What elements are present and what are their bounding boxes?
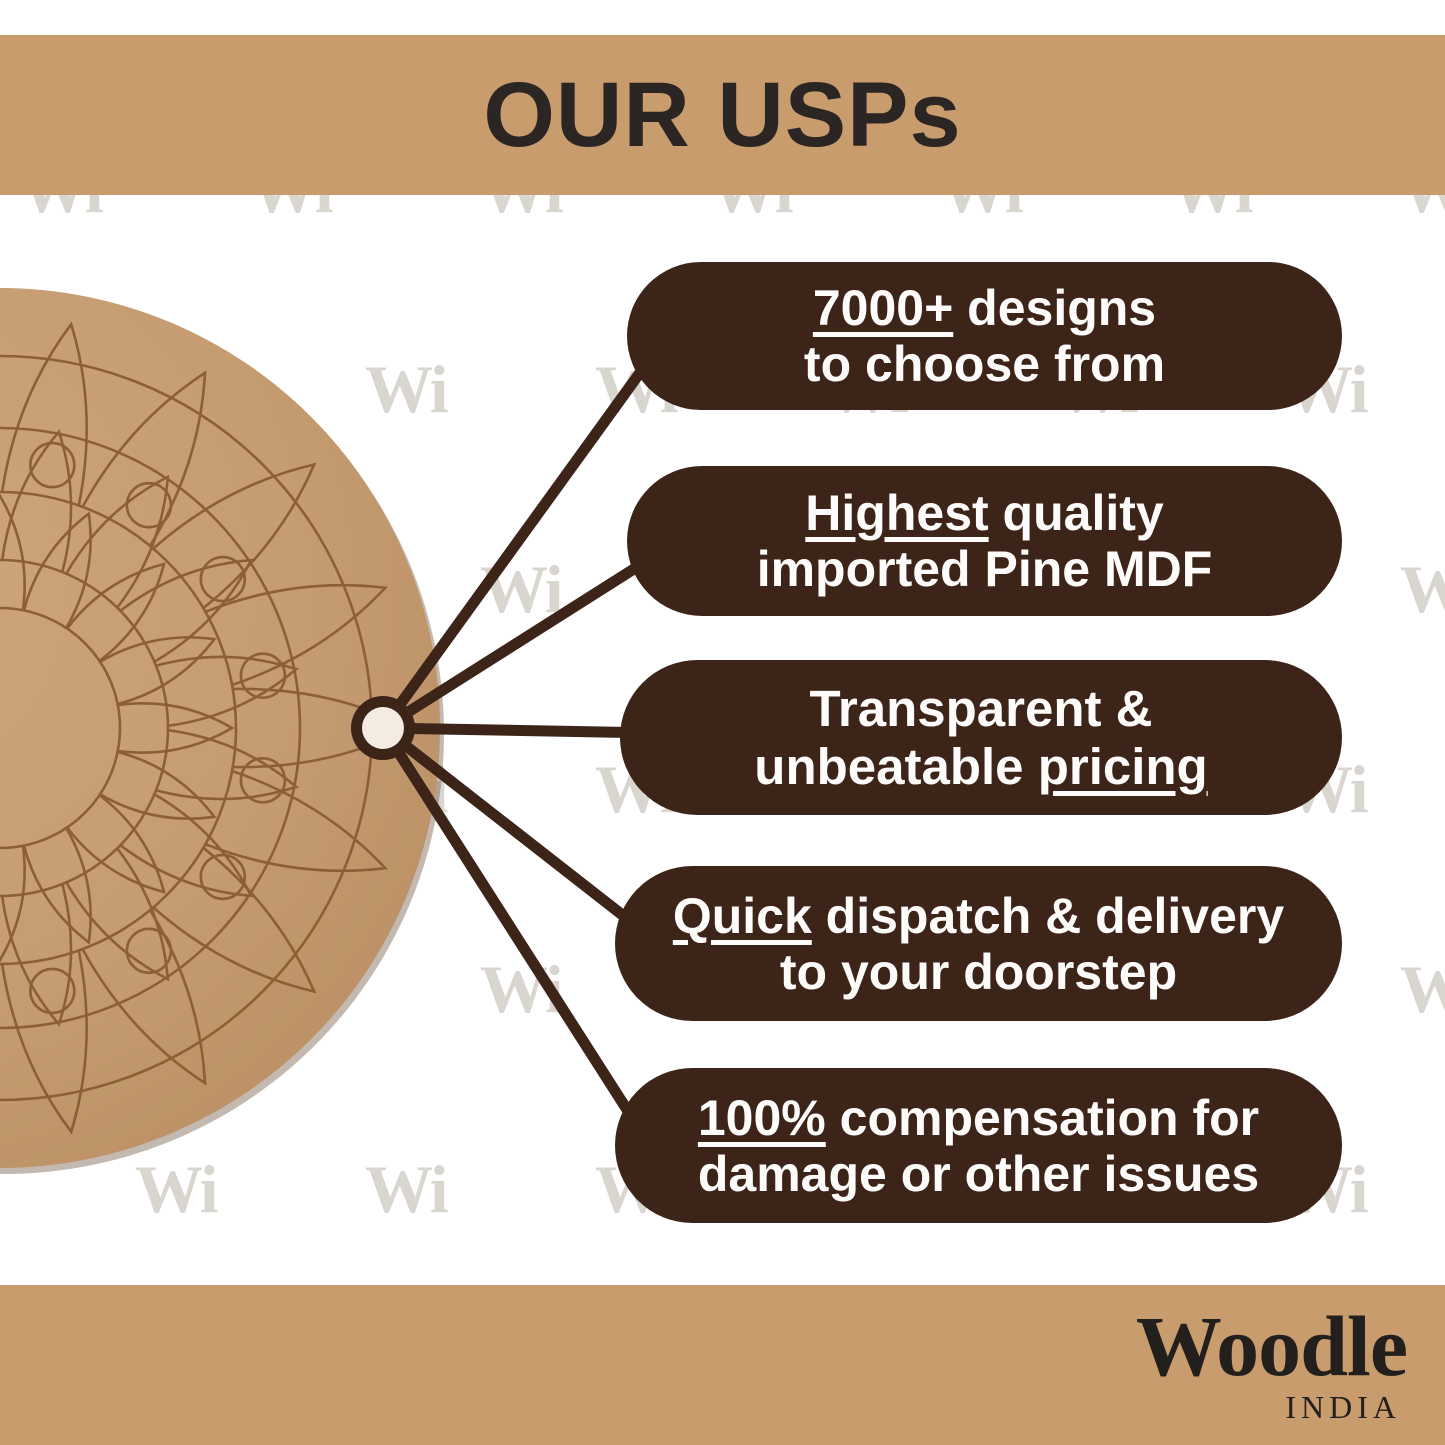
- usp-2-l2-pre: unbeatable: [754, 738, 1037, 795]
- usp-pill-dispatch[interactable]: Quick dispatch & delivery to your doorst…: [615, 866, 1342, 1021]
- usp-text-designs: 7000+ designs to choose from: [804, 280, 1165, 392]
- usp-pill-pricing[interactable]: Transparent & unbeatable pricing: [620, 660, 1342, 815]
- connector-line-1: [383, 345, 660, 728]
- brand-name: Woodle: [1136, 1303, 1407, 1389]
- header-band: OUR USPs: [0, 35, 1445, 195]
- usp-4-l1-post: compensation for: [826, 1090, 1259, 1146]
- usp-0-l1-post: designs: [953, 280, 1156, 336]
- usp-0-l2-pre: to choose from: [804, 336, 1165, 392]
- usp-1-l1-post: quality: [989, 485, 1164, 541]
- usp-0-l1-underline: 7000+: [813, 280, 953, 336]
- footer-band: Woodle INDIA: [0, 1285, 1445, 1445]
- brand-logo: Woodle INDIA: [1136, 1303, 1407, 1423]
- usp-3-l1-post: dispatch & delivery: [812, 888, 1284, 944]
- usp-2-l1-pre: Transparent &: [810, 680, 1153, 737]
- usp-text-quality: Highest quality imported Pine MDF: [757, 485, 1213, 597]
- connector-hub-core: [362, 707, 404, 749]
- connector-line-5: [383, 728, 640, 1130]
- usp-3-l1-underline: Quick: [673, 888, 812, 944]
- usp-text-pricing: Transparent & unbeatable pricing: [754, 680, 1207, 794]
- infographic-canvas: WiWiWiWiWiWiWiWiWiWiWiWiWiWiWiWiWiWiWiWi…: [0, 0, 1445, 1445]
- usp-pill-compensation[interactable]: 100% compensation for damage or other is…: [615, 1068, 1342, 1223]
- page-title: OUR USPs: [483, 69, 961, 161]
- usp-pill-designs[interactable]: 7000+ designs to choose from: [627, 262, 1342, 410]
- usp-4-l1-underline: 100%: [698, 1090, 826, 1146]
- usp-1-l1-underline: Highest: [805, 485, 988, 541]
- usp-text-dispatch: Quick dispatch & delivery to your doorst…: [673, 888, 1284, 1000]
- usp-2-l2-underline: pricing: [1038, 738, 1208, 795]
- usp-3-l2-pre: to your doorstep: [780, 944, 1177, 1000]
- usp-text-compensation: 100% compensation for damage or other is…: [698, 1090, 1259, 1202]
- brand-subtitle: INDIA: [1136, 1391, 1401, 1423]
- connector-line-3: [383, 728, 660, 733]
- usp-1-l2-pre: imported Pine MDF: [757, 541, 1213, 597]
- usp-pill-quality[interactable]: Highest quality imported Pine MDF: [627, 466, 1342, 616]
- usp-4-l2-pre: damage or other issues: [698, 1146, 1259, 1202]
